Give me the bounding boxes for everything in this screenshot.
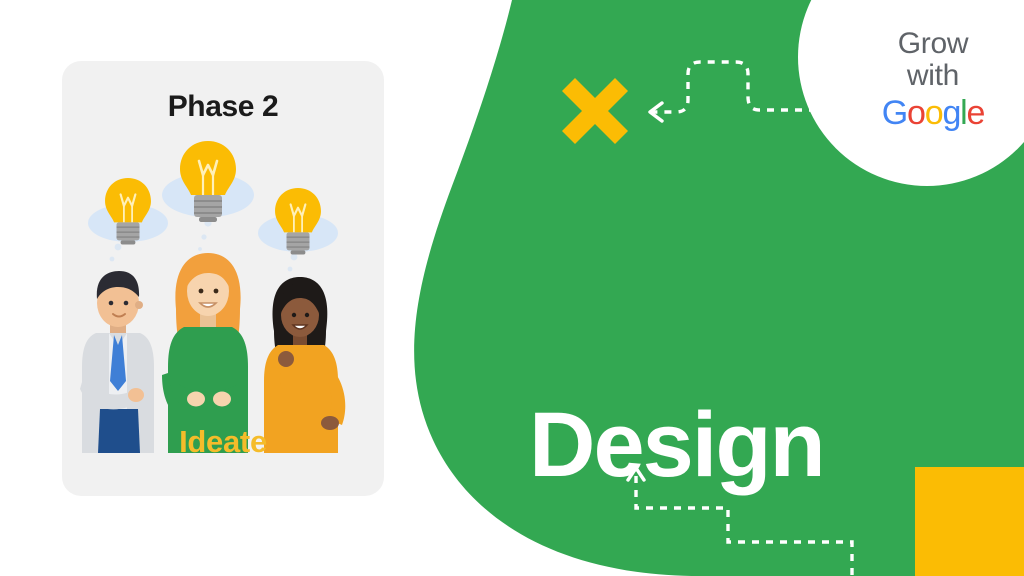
logo-line-with: with xyxy=(858,60,1008,92)
card-caption: Ideate xyxy=(62,424,384,460)
google-letter-1: o xyxy=(907,94,925,132)
logo-line-grow: Grow xyxy=(858,28,1008,60)
google-letter-5: e xyxy=(967,94,985,132)
google-letter-2: o xyxy=(925,94,943,132)
phase-card: Phase 2 xyxy=(62,61,384,496)
grow-with-google-logo: Grow with Google xyxy=(858,28,1008,132)
card-title: Phase 2 xyxy=(62,90,384,124)
slide-canvas: Design Ideation Grow with Google Phase 2 xyxy=(0,0,1024,576)
google-wordmark: Google xyxy=(858,95,1008,132)
ideation-illustration xyxy=(62,123,384,453)
person-center xyxy=(162,253,248,453)
google-letter-3: g xyxy=(942,94,960,132)
top-path-arrowhead xyxy=(650,103,662,121)
x-mark-icon xyxy=(562,78,628,144)
google-letter-0: G xyxy=(882,94,907,132)
title-line-1: Design xyxy=(529,400,866,491)
yellow-corner-rectangle xyxy=(915,467,1024,576)
page-title: Design Ideation xyxy=(529,218,866,576)
